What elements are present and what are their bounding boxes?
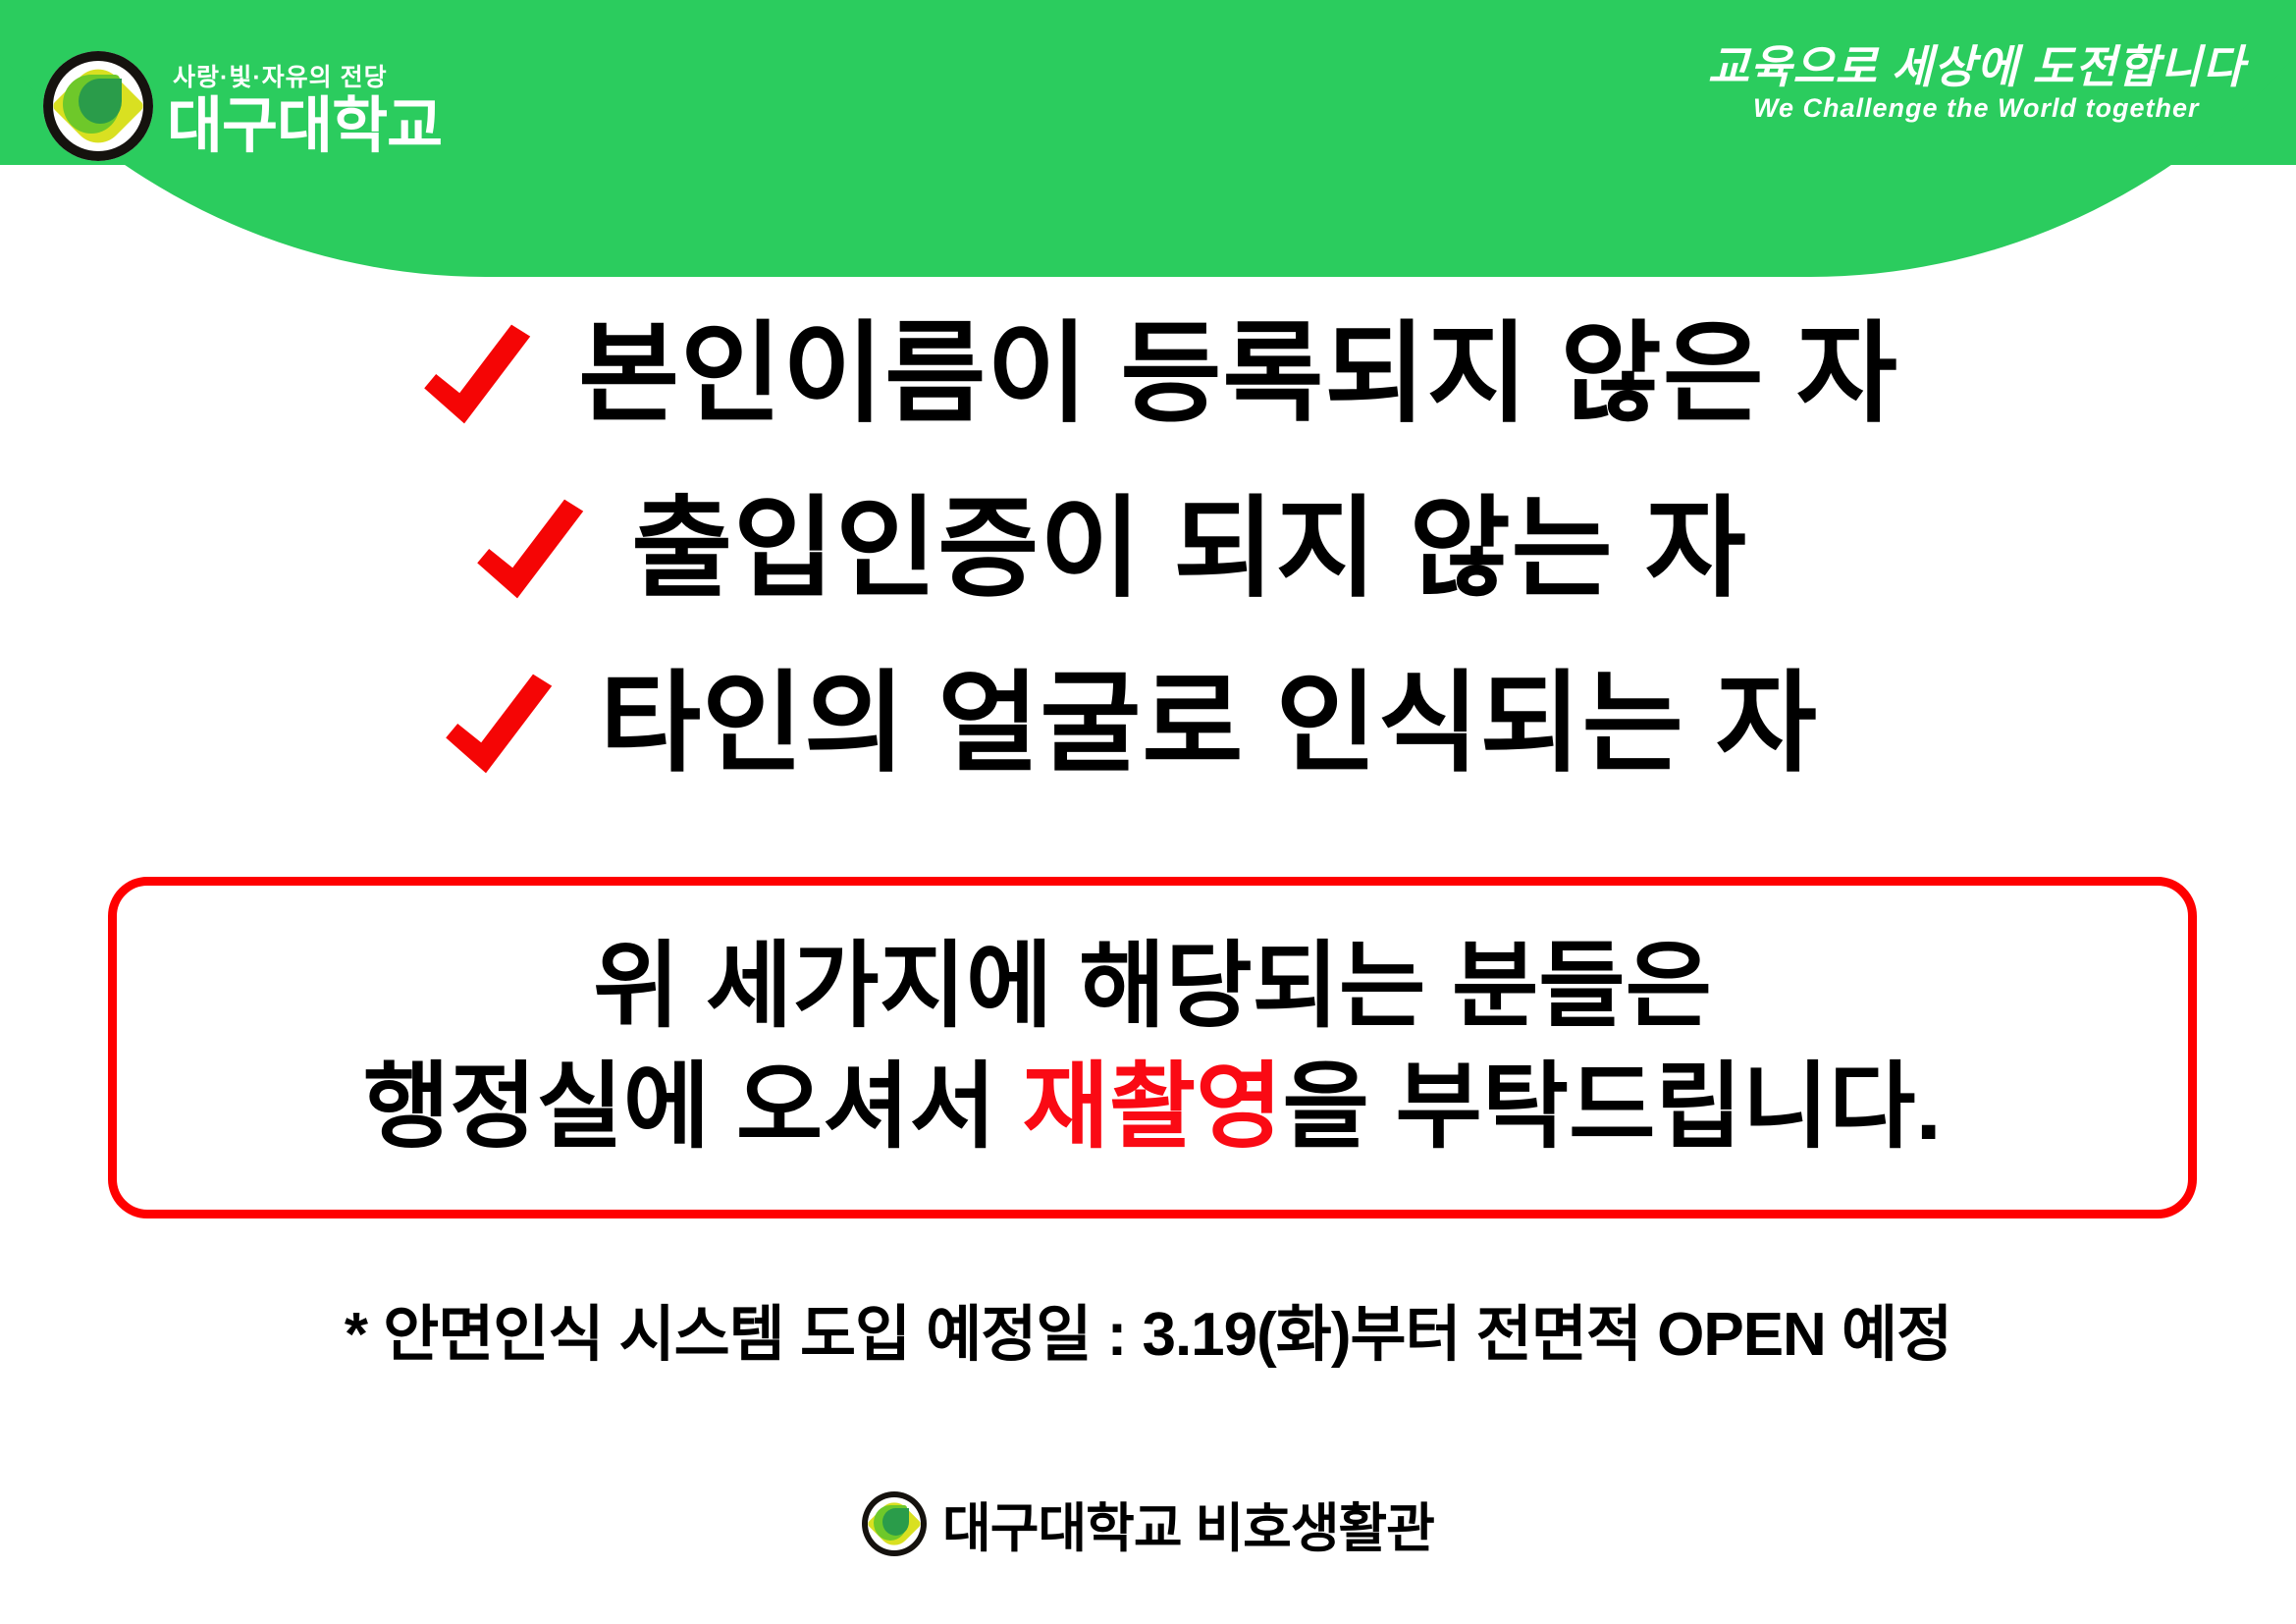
checklist-item-3-label: 타인의 얼굴로 인식되는 자 bbox=[600, 669, 1818, 779]
slogan-english: We Challenge the World together bbox=[1708, 94, 2245, 122]
poster-canvas: 사랑·빛·자유의 전당 대구대학교 교육으로 세상에 도전합니다 We Chal… bbox=[0, 0, 2296, 1624]
university-name: 대구대학교 bbox=[167, 96, 442, 157]
instruction-callout-box: 위 세가지에 해당되는 분들은 행정실에 오셔서 재촬영을 부탁드립니다. bbox=[108, 877, 2197, 1218]
checklist-item-1: 본인이름이 등록되지 않은 자 bbox=[0, 287, 2296, 461]
checklist-item-2: 출입인증이 되지 않는 자 bbox=[0, 461, 2296, 636]
checklist-item-3: 타인의 얼굴로 인식되는 자 bbox=[0, 636, 2296, 811]
daegu-university-seal-icon bbox=[862, 1491, 927, 1556]
university-slogan: 교육으로 세상에 도전합니다 We Challenge the World to… bbox=[1708, 43, 2245, 123]
footnote-schedule: * 안면인식 시스템 도입 예정일 : 3.19(화)부터 전면적 OPEN 예… bbox=[0, 1284, 2296, 1373]
checklist-item-1-label: 본인이름이 등록되지 않은 자 bbox=[578, 319, 1898, 429]
callout-line-1: 위 세가지에 해당되는 분들은 bbox=[593, 927, 1712, 1048]
footer-logo-lockup: 대구대학교 비호생활관 bbox=[0, 1485, 2296, 1562]
university-logo-lockup: 사랑·빛·자유의 전당 대구대학교 bbox=[43, 51, 442, 161]
logo-text-column: 사랑·빛·자유의 전당 대구대학교 bbox=[167, 66, 442, 161]
callout-line-2-suffix: 을 부탁드립니다. bbox=[1282, 1055, 1942, 1160]
red-checkmark-icon bbox=[439, 665, 557, 783]
daegu-university-seal-icon bbox=[43, 51, 153, 161]
slogan-korean: 교육으로 세상에 도전합니다 bbox=[1708, 43, 2245, 90]
callout-line-2-prefix: 행정실에 오셔서 bbox=[363, 1055, 1023, 1160]
checklist-item-2-label: 출입인증이 되지 않는 자 bbox=[631, 494, 1747, 604]
checklist-item-2-inner: 출입인증이 되지 않는 자 bbox=[470, 490, 1747, 608]
seal-dark-green-shape bbox=[882, 1508, 909, 1536]
checklist: 본인이름이 등록되지 않은 자 출입인증이 되지 않는 자 타인의 얼굴로 인식… bbox=[0, 287, 2296, 811]
callout-line-2: 행정실에 오셔서 재촬영을 부탁드립니다. bbox=[363, 1048, 1942, 1168]
checklist-item-3-inner: 타인의 얼굴로 인식되는 자 bbox=[439, 665, 1818, 783]
callout-highlight-rephoto: 재촬영 bbox=[1023, 1055, 1283, 1160]
seal-dark-green-shape bbox=[79, 79, 122, 124]
university-tagline: 사랑·빛·자유의 전당 bbox=[173, 66, 442, 90]
checklist-item-1-inner: 본인이름이 등록되지 않은 자 bbox=[417, 315, 1898, 433]
footer-organization-name: 대구대학교 비호생활관 bbox=[942, 1485, 1434, 1562]
red-checkmark-icon bbox=[470, 490, 588, 608]
red-checkmark-icon bbox=[417, 315, 535, 433]
